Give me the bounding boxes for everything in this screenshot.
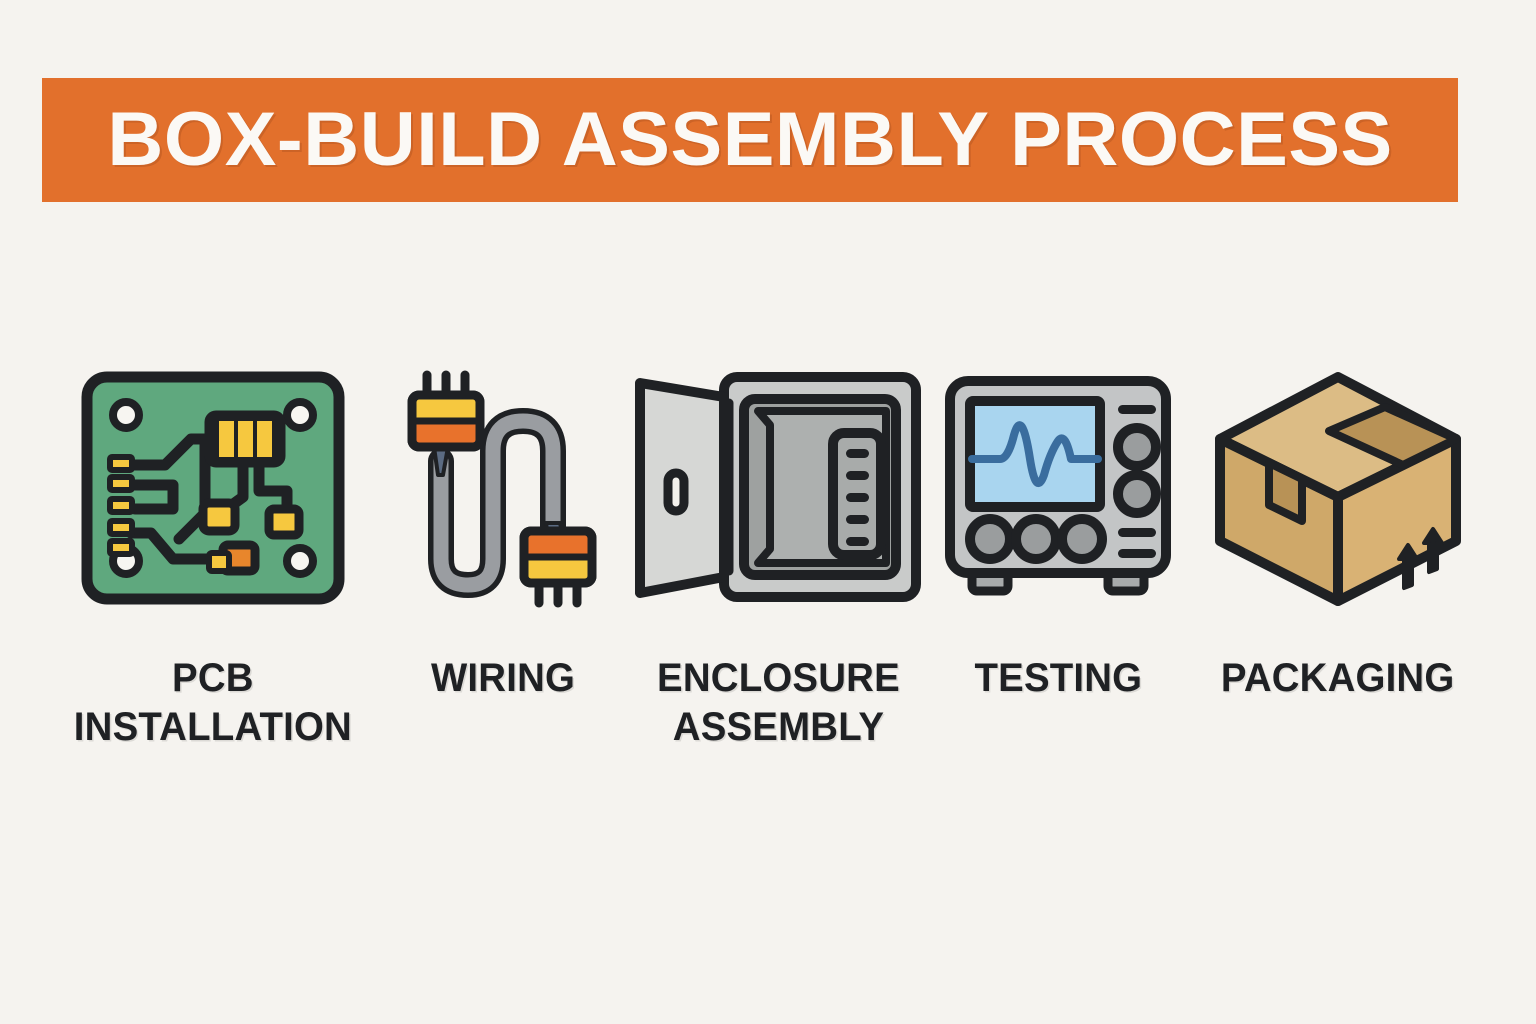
process-step-row: PCB INSTALLATION bbox=[0, 355, 1536, 752]
title-banner: BOX-BUILD ASSEMBLY PROCESS bbox=[42, 78, 1458, 202]
process-step-wiring[interactable]: WIRING bbox=[378, 355, 628, 703]
process-step-enclosure-assembly[interactable]: ENCLOSURE ASSEMBLY bbox=[628, 355, 928, 752]
page-title: BOX-BUILD ASSEMBLY PROCESS bbox=[107, 102, 1392, 178]
step-label-pcb-installation: PCB INSTALLATION bbox=[74, 654, 352, 752]
wiring-cable-icon-wrap bbox=[398, 355, 608, 620]
shipping-box-icon-wrap bbox=[1203, 355, 1473, 620]
shipping-box-icon bbox=[1203, 363, 1473, 613]
process-step-pcb-installation[interactable]: PCB INSTALLATION bbox=[48, 355, 378, 752]
process-step-packaging[interactable]: PACKAGING bbox=[1188, 355, 1488, 703]
step-label-testing: TESTING bbox=[974, 654, 1142, 703]
enclosure-cabinet-icon bbox=[628, 363, 928, 613]
step-label-wiring: WIRING bbox=[431, 654, 575, 703]
process-step-testing[interactable]: TESTING bbox=[928, 355, 1188, 703]
step-label-enclosure-assembly: ENCLOSURE ASSEMBLY bbox=[657, 654, 900, 752]
wiring-cable-icon bbox=[398, 363, 608, 613]
pcb-board-icon-wrap bbox=[73, 355, 353, 620]
oscilloscope-icon bbox=[938, 363, 1178, 613]
step-label-packaging: PACKAGING bbox=[1221, 654, 1455, 703]
enclosure-cabinet-icon-wrap bbox=[628, 355, 928, 620]
pcb-board-icon bbox=[73, 363, 353, 613]
oscilloscope-icon-wrap bbox=[938, 355, 1178, 620]
